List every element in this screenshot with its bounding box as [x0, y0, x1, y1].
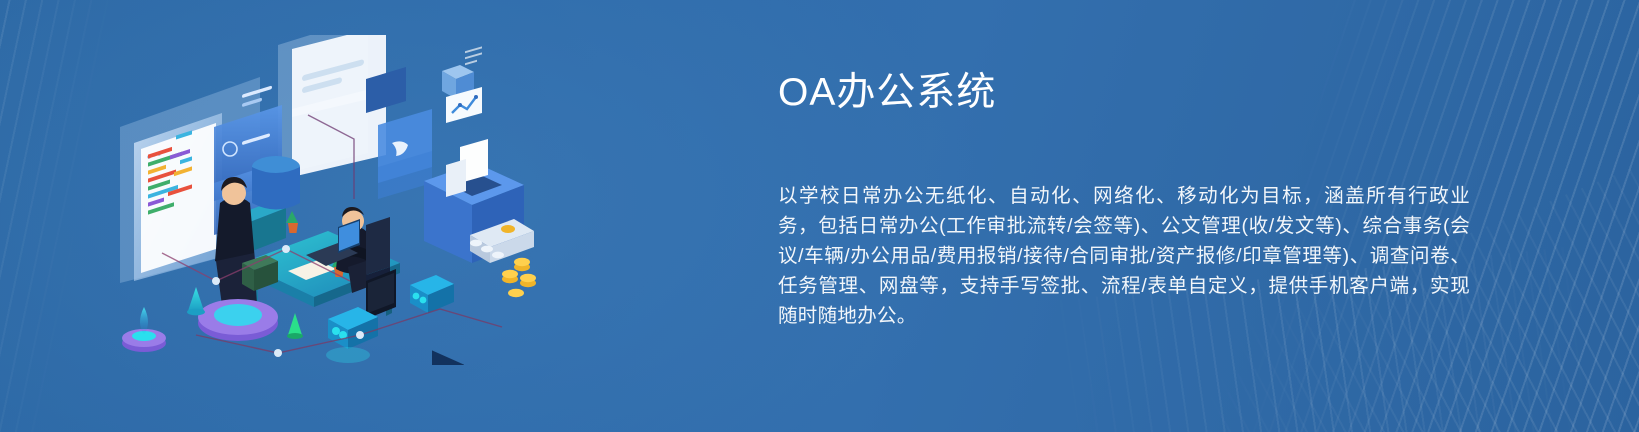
coin-stack	[502, 258, 536, 297]
document-printer-machine	[424, 46, 536, 365]
isometric-office-illustration	[110, 35, 540, 365]
oa-banner: OA办公系统 以学校日常办公无纸化、自动化、网络化、移动化为目标，涵盖所有行政业…	[0, 0, 1639, 432]
page-description: 以学校日常办公无纸化、自动化、网络化、移动化为目标，涵盖所有行政业务，包括日常办…	[778, 118, 1470, 331]
glowing-pedestal	[122, 307, 166, 352]
robot-speaker	[410, 275, 454, 313]
robot-speaker	[326, 307, 378, 363]
waste-bin	[252, 156, 300, 210]
bird-icon-panel	[378, 109, 432, 199]
cone-tree	[187, 287, 205, 315]
glowing-podium	[198, 299, 278, 341]
banner-copy: OA办公系统 以学校日常办公无纸化、自动化、网络化、移动化为目标，涵盖所有行政业…	[778, 68, 1478, 331]
cone-tree	[287, 313, 303, 339]
page-title: OA办公系统	[778, 68, 1478, 118]
